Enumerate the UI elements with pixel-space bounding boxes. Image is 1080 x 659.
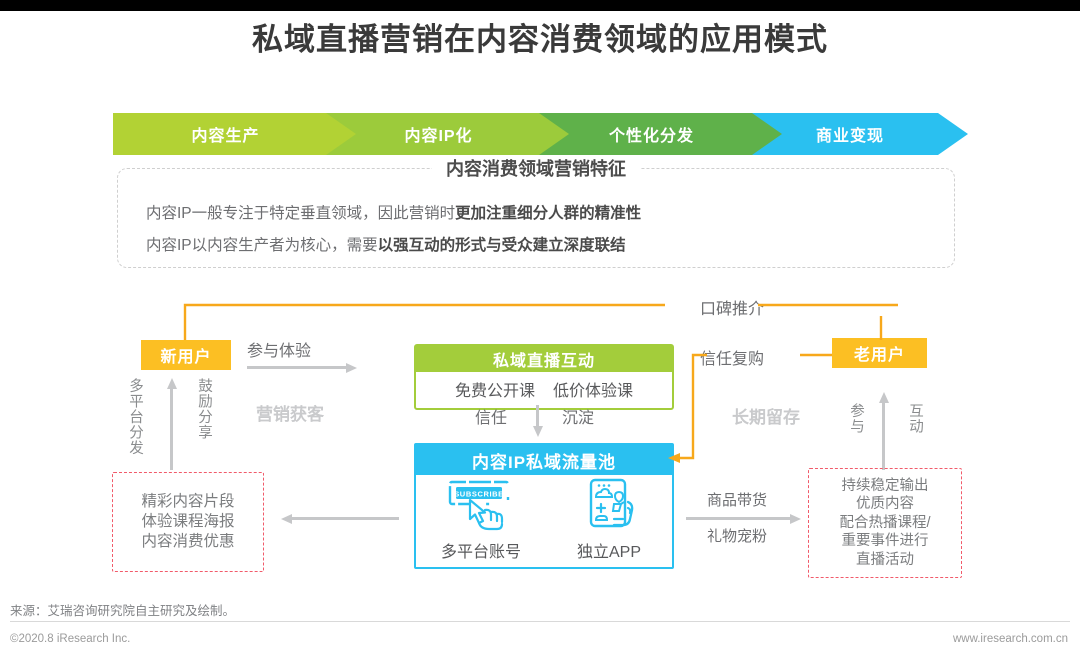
phone-in-hand-icon [571, 478, 647, 534]
left-box-line-2: 体验课程海报 [141, 512, 234, 532]
old-user-left-connector [800, 348, 840, 362]
multi-platform-account-caption: 多平台账号 [441, 538, 521, 562]
marketing-feature-line-1: 内容IP一般专注于特定垂直领域，因此营销时更加注重细分人群的精准性 [146, 201, 641, 223]
right-box-line-5: 直播活动 [856, 551, 914, 570]
subscribe-cursor-icon: SUBSCRIBE [443, 478, 519, 534]
copyright-text: ©2020.8 iResearch Inc. [10, 633, 130, 645]
process-flow-band: 内容生产 内容IP化 个性化分发 商业变现 [113, 113, 968, 155]
source-note: 来源：艾瑞咨询研究院自主研究及绘制。 [10, 600, 235, 619]
icon-cell-independent-app[interactable]: 独立APP [571, 478, 647, 562]
private-domain-live-items: 免费公开课 低价体验课 [416, 372, 672, 406]
commerce-label-top: 商品带货 [707, 489, 767, 510]
flow-step-1-label: 内容生产 [191, 122, 259, 146]
right-content-strategy-box: 持续稳定输出 优质内容 配合热播课程/ 重要事件进行 直播活动 [808, 468, 962, 578]
flow-step-4[interactable]: 商业变现 [752, 113, 968, 155]
encourage-share-label: 鼓励分享 [194, 378, 215, 440]
flow-step-2[interactable]: 内容IP化 [326, 113, 571, 155]
green-panel-item-2: 低价体验课 [553, 377, 633, 401]
right-box-line-2: 优质内容 [856, 495, 914, 514]
marketing-feature-line-2: 内容IP以内容生产者为核心，需要以强互动的形式与受众建立深度联结 [146, 233, 626, 255]
repurchase-feedback-connector [660, 348, 720, 473]
marketing-features-title: 内容消费领域营销特征 [432, 155, 640, 181]
left-box-line-1: 精彩内容片段 [141, 492, 234, 512]
precipitate-label: 沉淀 [562, 404, 594, 428]
content-ip-traffic-pool-icons: SUBSCRIBE 多平台账号 [416, 475, 672, 565]
subscribe-badge-text: SUBSCRIBE [454, 490, 504, 499]
right-box-line-4: 重要事件进行 [842, 532, 929, 551]
private-domain-live-header: 私域直播互动 [416, 346, 672, 372]
website-link[interactable]: www.iresearch.com.cn [953, 633, 1068, 645]
private-domain-live-panel[interactable]: 私域直播互动 免费公开课 低价体验课 [414, 344, 674, 410]
participate-vertical-label: 参与 [846, 403, 867, 434]
old-user-top-connector [875, 316, 887, 342]
top-black-bar [0, 0, 1080, 11]
flow-step-3[interactable]: 个性化分发 [539, 113, 784, 155]
arrow-new-user-to-green [247, 363, 357, 371]
interact-vertical-label: 互动 [905, 403, 926, 434]
flow-step-1[interactable]: 内容生产 [113, 113, 358, 155]
right-box-line-1: 持续稳定输出 [842, 477, 929, 496]
feature-line-1-normal: 内容IP一般专注于特定垂直领域，因此营销时 [146, 205, 455, 222]
content-ip-traffic-pool-panel[interactable]: 内容IP私域流量池 SUBSCRIBE 多平台账号 [414, 443, 674, 569]
feature-line-2-bold: 以强互动的形式与受众建立深度联结 [378, 237, 626, 254]
content-ip-traffic-pool-header: 内容IP私域流量池 [416, 445, 672, 475]
marketing-features-box: 内容消费领域营销特征 内容IP一般专注于特定垂直领域，因此营销时更加注重细分人群… [117, 168, 955, 268]
commerce-label-bottom: 礼物宠粉 [707, 525, 767, 546]
new-user-box[interactable]: 新用户 [141, 340, 231, 370]
flow-step-3-label: 个性化分发 [609, 122, 694, 146]
up-arrow-right [879, 392, 887, 470]
flow-step-2-label: 内容IP化 [404, 122, 472, 146]
arrow-pool-to-strategy [686, 514, 801, 522]
arrow-pool-to-assets [281, 514, 399, 522]
down-arrow-center [533, 405, 541, 437]
left-box-line-3: 内容消费优惠 [141, 532, 234, 552]
participate-experience-label: 参与体验 [247, 337, 311, 361]
word-of-mouth-connector-right [758, 296, 918, 316]
footer-divider [10, 621, 1070, 622]
flow-step-4-label: 商业变现 [816, 122, 884, 146]
word-of-mouth-label: 口碑推介 [700, 295, 764, 319]
up-arrow-left [167, 378, 175, 470]
left-content-assets-box: 精彩内容片段 体验课程海报 内容消费优惠 [112, 472, 264, 572]
feature-line-2-normal: 内容IP以内容生产者为核心，需要 [146, 237, 378, 254]
page-title: 私域直播营销在内容消费领域的应用模式 [0, 14, 1080, 59]
old-user-box[interactable]: 老用户 [832, 338, 927, 368]
multi-platform-distribution-label: 多平台分发 [125, 378, 146, 456]
green-panel-item-1: 免费公开课 [455, 377, 535, 401]
independent-app-caption: 独立APP [577, 538, 641, 562]
long-term-retention-label: 长期留存 [732, 403, 800, 428]
feature-line-1-bold: 更加注重细分人群的精准性 [455, 205, 641, 222]
icon-cell-multi-platform-account[interactable]: SUBSCRIBE 多平台账号 [441, 478, 521, 562]
right-box-line-3: 配合热播课程/ [839, 514, 930, 533]
trust-label: 信任 [475, 404, 507, 428]
marketing-acquisition-label: 营销获客 [256, 400, 324, 425]
